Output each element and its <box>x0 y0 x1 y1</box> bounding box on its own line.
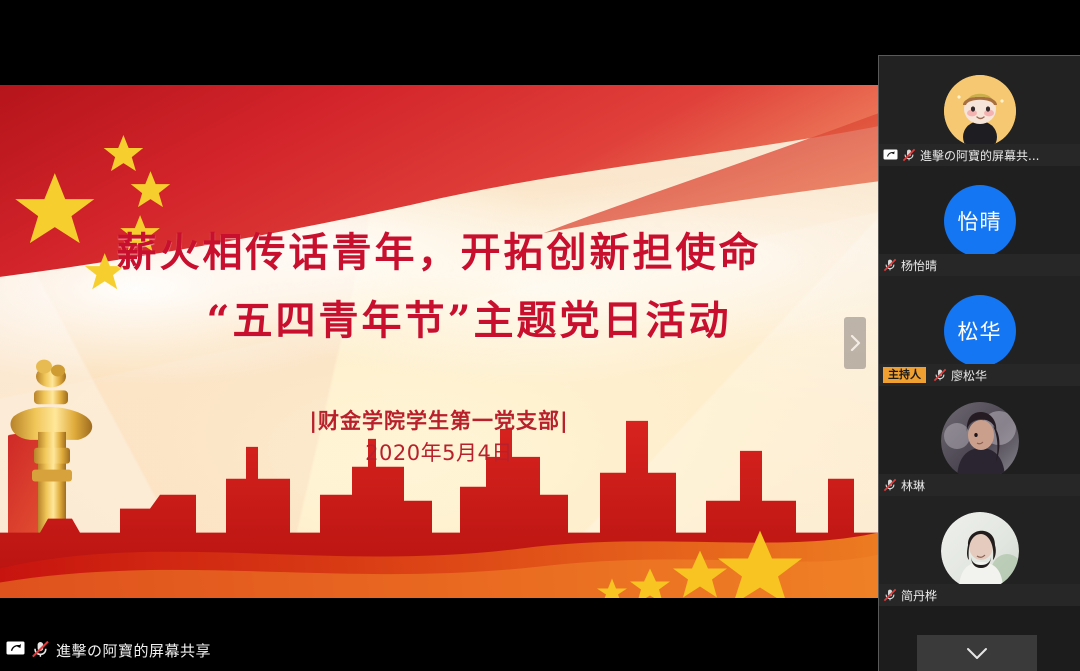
participant-label: 林琳 <box>879 474 1080 496</box>
participant-label: 杨怡晴 <box>879 254 1080 276</box>
avatar <box>944 75 1016 147</box>
participant-name: 林琳 <box>901 477 925 494</box>
slide-text-block: 薪火相传话青年，开拓创新担使命 “五四青年节”主题党日活动 |财金学院学生第一党… <box>0 85 878 598</box>
avatar <box>941 512 1019 590</box>
avatar-initials: 怡晴 <box>958 206 1002 236</box>
screen-share-status-text: 進擊の阿寶的屏幕共享 <box>56 640 211 661</box>
participant-label: 進擊の阿寶的屏幕共... <box>879 144 1080 166</box>
participant-tile[interactable]: 怡晴 杨怡晴 <box>879 166 1080 276</box>
participants-scroll-down-button[interactable] <box>917 635 1037 671</box>
host-badge: 主持人 <box>883 367 926 384</box>
avatar: 松华 <box>944 295 1016 367</box>
screen-share-icon <box>6 641 25 661</box>
mic-muted-icon <box>902 148 916 162</box>
participant-tile[interactable]: 進擊の阿寶的屏幕共... <box>879 56 1080 166</box>
zoom-meeting-window: 薪火相传话青年，开拓创新担使命 “五四青年节”主题党日活动 |财金学院学生第一党… <box>0 0 1080 671</box>
mic-muted-icon <box>883 258 897 272</box>
shared-screen-stage[interactable]: 薪火相传话青年，开拓创新担使命 “五四青年节”主题党日活动 |财金学院学生第一党… <box>0 0 878 671</box>
participant-tile[interactable]: 林琳 <box>879 386 1080 496</box>
mic-muted-icon <box>933 368 947 382</box>
participant-label: 简丹桦 <box>879 584 1080 606</box>
mic-muted-icon <box>31 640 50 662</box>
participant-name: 简丹桦 <box>901 587 937 604</box>
participant-tile[interactable]: 简丹桦 <box>879 496 1080 606</box>
participant-tile[interactable]: 松华 主持人 廖松华 <box>879 276 1080 386</box>
next-slide-button[interactable] <box>844 317 866 369</box>
participant-name: 杨怡晴 <box>901 257 937 274</box>
screen-share-icon <box>883 149 898 162</box>
slide-subtitle-organization: |财金学院学生第一党支部| <box>0 405 878 435</box>
mic-muted-icon <box>883 478 897 492</box>
participant-name: 廖松华 <box>951 367 987 384</box>
slide-title-line-2: “五四青年节”主题党日活动 <box>0 288 878 346</box>
chevron-down-icon <box>966 647 988 660</box>
slide-subtitle-date: 2020年5月4日 <box>0 437 878 467</box>
participants-filmstrip[interactable]: 進擊の阿寶的屏幕共... 怡晴 杨怡晴 <box>878 55 1080 671</box>
avatar <box>941 402 1019 480</box>
slide-title-line-1: 薪火相传话青年，开拓创新担使命 <box>0 220 878 278</box>
participant-label: 主持人 廖松华 <box>879 364 1080 386</box>
participant-name: 進擊の阿寶的屏幕共... <box>920 147 1039 164</box>
chevron-right-icon <box>849 335 861 351</box>
mic-muted-icon <box>883 588 897 602</box>
screen-share-status-bar: 進擊の阿寶的屏幕共享 <box>0 630 878 671</box>
avatar-initials: 松华 <box>958 316 1002 346</box>
presentation-slide[interactable]: 薪火相传话青年，开拓创新担使命 “五四青年节”主题党日活动 |财金学院学生第一党… <box>0 85 878 598</box>
avatar: 怡晴 <box>944 185 1016 257</box>
